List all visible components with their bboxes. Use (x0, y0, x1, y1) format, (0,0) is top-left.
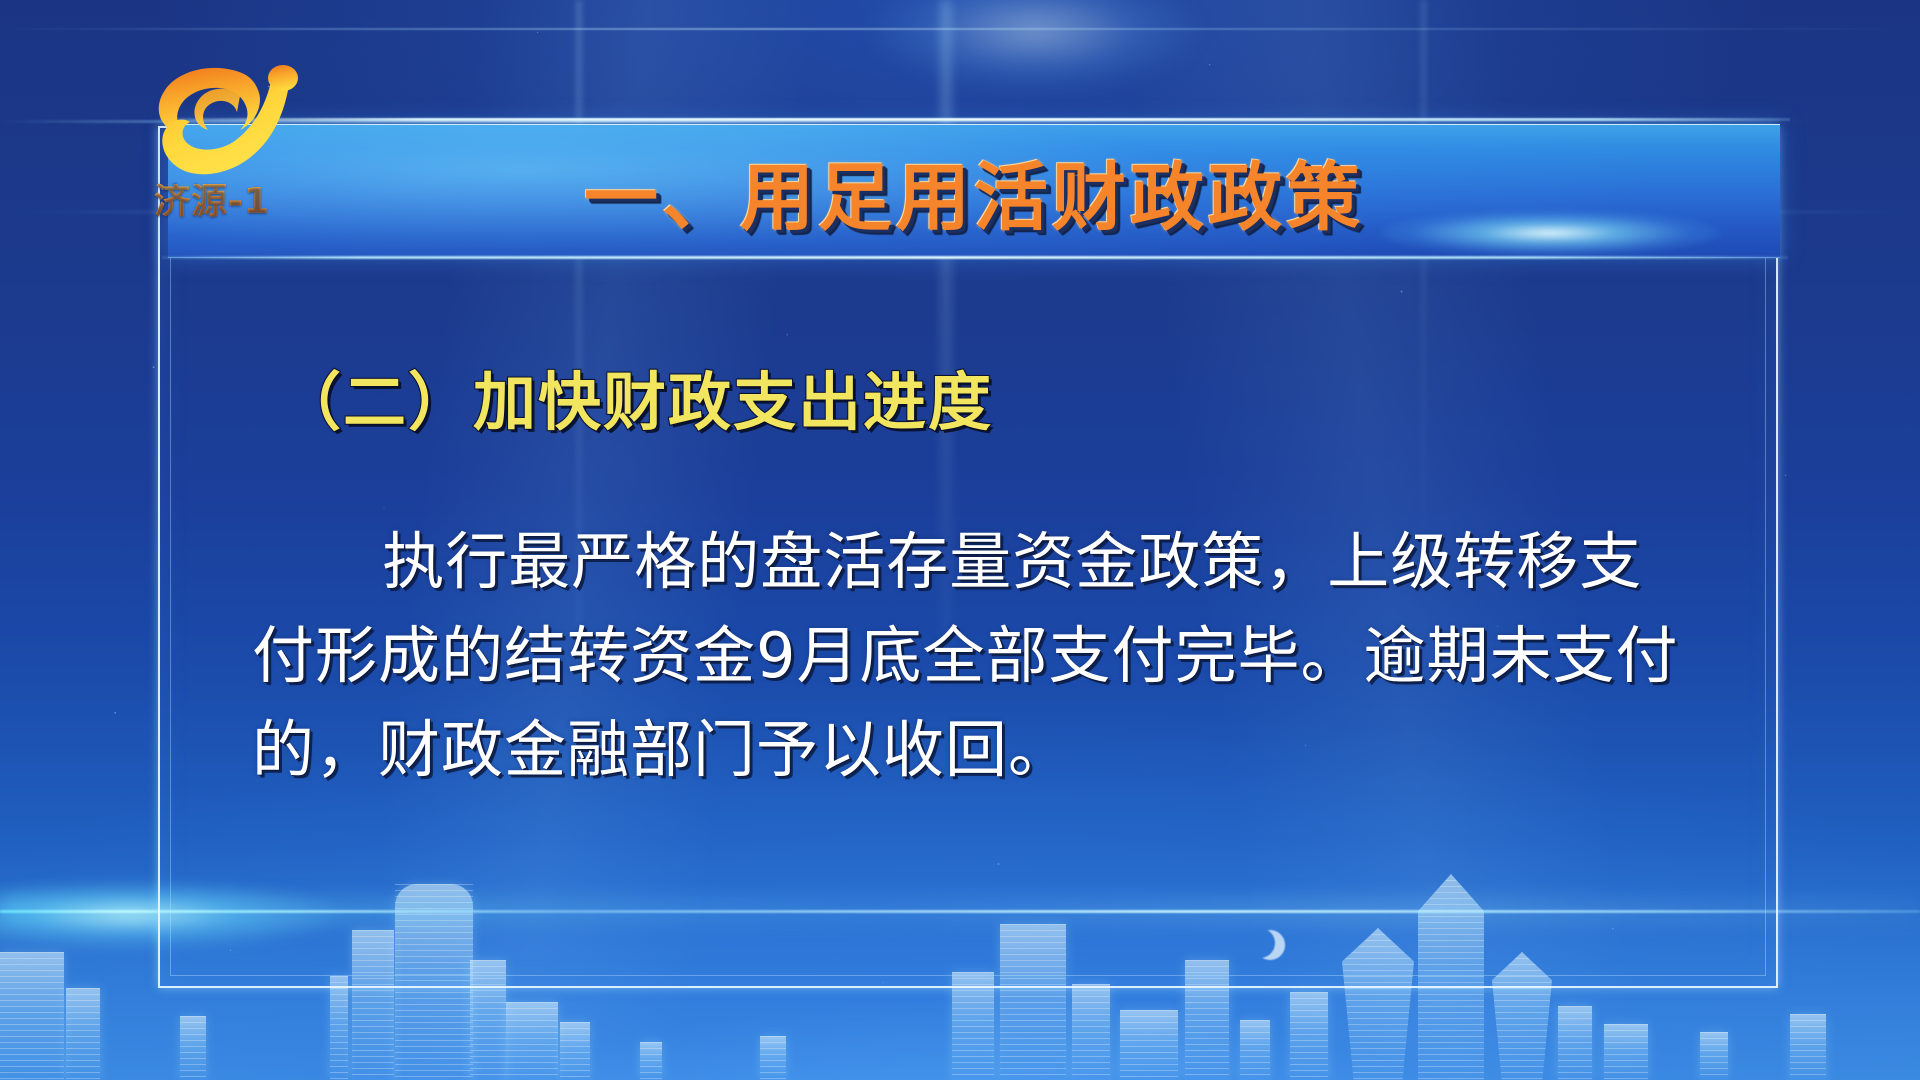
skyline-building (1790, 1014, 1826, 1080)
jiyuan-swirl-logo-icon (140, 56, 300, 191)
skyline-building (0, 952, 64, 1080)
channel-logo-text: 济源-1 (154, 184, 270, 220)
skyline-building (506, 1002, 558, 1080)
skyline-building (1604, 1024, 1648, 1080)
page-title: 一、用足用活财政政策 (168, 124, 1780, 258)
skyline-building (1558, 1006, 1592, 1080)
slide-body-text: 执行最严格的盘活存量资金政策，上级转移支 付形成的结转资金9月底全部支付完毕。逾… (252, 515, 1692, 798)
skyline-building (1072, 984, 1110, 1080)
skyline-building (66, 988, 100, 1080)
skyline-building (1700, 1032, 1728, 1080)
slide-subtitle: （二）加快财政支出进度 (278, 352, 993, 443)
broadcast-slide-stage: 一、用足用活财政政策 (0, 0, 1920, 1080)
skyline-building (1120, 1010, 1178, 1080)
body-line: 的，财政金融部门予以收回。 (252, 703, 1692, 797)
skyline-building (640, 1042, 662, 1080)
lens-flare-top (870, 0, 1200, 90)
light-sweep-top (0, 28, 1920, 30)
skyline-building (952, 972, 994, 1080)
skyline-building (180, 1016, 206, 1080)
body-line: 执行最严格的盘活存量资金政策，上级转移支 (252, 515, 1692, 609)
skyline-building (1290, 992, 1328, 1080)
body-line: 付形成的结转资金9月底全部支付完毕。逾期未支付 (252, 609, 1692, 703)
skyline-building (560, 1022, 590, 1080)
channel-logo: 济源-1 (140, 56, 330, 236)
skyline-building (760, 1036, 786, 1080)
skyline-building (330, 976, 348, 1080)
banner-top-highlight (160, 118, 1790, 121)
skyline-building (1240, 1020, 1270, 1080)
